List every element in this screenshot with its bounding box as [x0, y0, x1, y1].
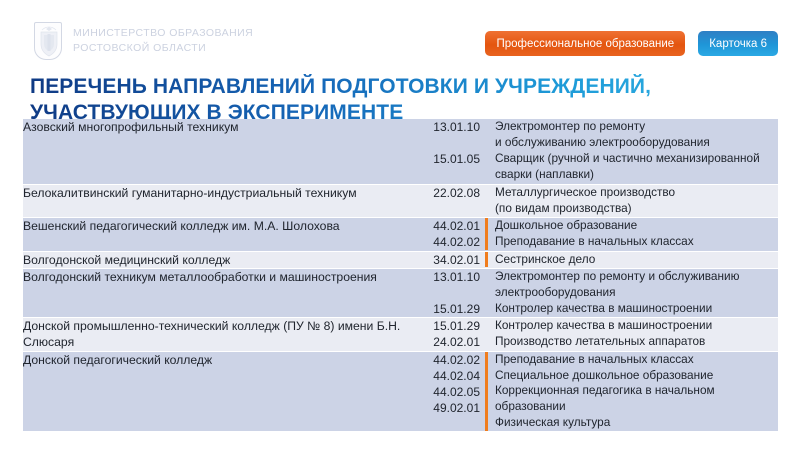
accent-bar-placeholder	[485, 185, 488, 217]
program-title-line: Преподавание в начальных классах	[495, 234, 694, 250]
badge-category[interactable]: Профессиональное образование	[485, 31, 685, 56]
program-title-line: Контролер качества в машиностроении	[495, 301, 712, 317]
institution-name: Азовский многопрофильный техникум	[23, 119, 408, 135]
program-title-line: сварки (наплавки)	[495, 167, 760, 183]
program-title: Коррекционная педагогика в начальном обр…	[492, 383, 778, 415]
accent-bar-placeholder	[485, 301, 488, 317]
slide-header: МИНИСТЕРСТВО ОБРАЗОВАНИЯ РОСТОВСКОЙ ОБЛА…	[0, 0, 800, 72]
code-cell: 44.02.0144.02.02	[408, 218, 480, 251]
program-cell: Преподавание в начальных классахСпециаль…	[480, 351, 778, 432]
accent-bar-slot	[480, 383, 492, 415]
program-entry: Преподавание в начальных классах	[480, 234, 778, 250]
institution-name: Донской педагогический колледж	[23, 352, 408, 368]
code-cell: 13.01.10 15.01.05	[408, 119, 480, 184]
program-cell: Электромонтер по ремонту и обслуживаниюэ…	[480, 268, 778, 318]
institution-cell: Вешенский педагогический колледж им. М.А…	[23, 218, 408, 251]
table-row: Донской педагогический колледж44.02.0244…	[23, 351, 778, 432]
accent-bar-placeholder	[485, 119, 488, 151]
accent-bar-slot	[480, 234, 492, 250]
program-entry: Контролер качества в машиностроении	[480, 318, 778, 334]
program-title: Производство летательных аппаратов	[492, 334, 705, 350]
program-title-line: Физическая культура	[495, 415, 610, 431]
program-entry: Сварщик (ручной и частично механизирован…	[480, 151, 778, 183]
program-entry: Контролер качества в машиностроении	[480, 301, 778, 317]
program-code: 13.01.10	[408, 269, 480, 285]
program-title-line: Специальное дошкольное образование	[495, 368, 713, 384]
program-entry: Электромонтер по ремонту и обслуживаниюэ…	[480, 269, 778, 301]
accent-bar-slot	[480, 352, 492, 368]
accent-bar-icon	[485, 218, 488, 234]
institution-name: Волгодонский техникум металлообработки и…	[23, 269, 408, 285]
program-code: 44.02.04	[408, 368, 480, 384]
program-cell: Сестринское дело	[480, 251, 778, 268]
program-cell: Металлургическое производство(по видам п…	[480, 184, 778, 217]
institution-cell: Донской педагогический колледж	[23, 351, 408, 432]
program-title-line: Электромонтер по ремонту	[495, 119, 710, 135]
accent-bar-icon	[485, 415, 488, 431]
accent-bar-slot	[480, 415, 492, 431]
code-cell: 15.01.2924.02.01	[408, 318, 480, 351]
program-entry: Электромонтер по ремонтуи обслуживанию э…	[480, 119, 778, 151]
institution-cell: Волгодонской медицинский колледж	[23, 251, 408, 268]
program-title: Металлургическое производство(по видам п…	[492, 185, 675, 217]
program-title: Дошкольное образование	[492, 218, 637, 234]
accent-bar-placeholder	[485, 151, 488, 183]
ministry-name: МИНИСТЕРСТВО ОБРАЗОВАНИЯ РОСТОВСКОЙ ОБЛА…	[73, 27, 253, 55]
program-entry: Специальное дошкольное образование	[480, 368, 778, 384]
table-row: Вешенский педагогический колледж им. М.А…	[23, 218, 778, 251]
accent-bar-slot	[480, 252, 492, 268]
program-title-line: электрооборудования	[495, 285, 739, 301]
table-row: Волгодонский техникум металлообработки и…	[23, 268, 778, 318]
accent-bar-slot	[480, 368, 492, 384]
program-title-line: Преподавание в начальных классах	[495, 352, 694, 368]
code-cell: 44.02.0244.02.0444.02.0549.02.01	[408, 351, 480, 432]
institution-name: Волгодонской медицинский колледж	[23, 252, 408, 268]
program-cell: Электромонтер по ремонтуи обслуживанию э…	[480, 119, 778, 184]
accent-bar-slot	[480, 269, 492, 301]
program-title: Электромонтер по ремонту и обслуживаниюэ…	[492, 269, 739, 301]
program-cell: Контролер качества в машиностроенииПроиз…	[480, 318, 778, 351]
accent-bar-slot	[480, 334, 492, 350]
program-code: 49.02.01	[408, 400, 480, 416]
program-entry: Дошкольное образование	[480, 218, 778, 234]
program-title: Сестринское дело	[492, 252, 595, 268]
accent-bar-icon	[485, 234, 488, 250]
program-entry: Коррекционная педагогика в начальном обр…	[480, 383, 778, 415]
program-code: 15.01.29	[408, 318, 480, 334]
code-spacer	[408, 135, 480, 151]
institution-cell: Волгодонский техникум металлообработки и…	[23, 268, 408, 318]
table-row: Волгодонской медицинский колледж34.02.01…	[23, 251, 778, 268]
program-code: 44.02.02	[408, 352, 480, 368]
table-row: Донской промышленно-технический колледж …	[23, 318, 778, 351]
accent-bar-placeholder	[485, 334, 488, 350]
accent-bar-slot	[480, 318, 492, 334]
code-spacer	[408, 285, 480, 301]
program-title: Контролер качества в машиностроении	[492, 301, 712, 317]
program-title-line: Коррекционная педагогика в начальном обр…	[495, 383, 778, 415]
program-title-line: Сестринское дело	[495, 252, 595, 268]
slide-root: МИНИСТЕРСТВО ОБРАЗОВАНИЯ РОСТОВСКОЙ ОБЛА…	[0, 0, 800, 450]
table-row: Белокалитвинский гуманитарно-индустриаль…	[23, 184, 778, 217]
code-cell: 13.01.10 15.01.29	[408, 268, 480, 318]
program-title: Сварщик (ручной и частично механизирован…	[492, 151, 760, 183]
code-spacer	[408, 168, 480, 184]
program-code: 22.02.08	[408, 185, 480, 201]
program-entry: Производство летательных аппаратов	[480, 334, 778, 350]
program-entry: Физическая культура	[480, 415, 778, 431]
programs-table: Азовский многопрофильный техникум13.01.1…	[23, 119, 778, 432]
table-row: Азовский многопрофильный техникум13.01.1…	[23, 119, 778, 184]
program-title-line: Сварщик (ручной и частично механизирован…	[495, 151, 760, 167]
program-title: Контролер качества в машиностроении	[492, 318, 712, 334]
accent-bar-slot	[480, 151, 492, 183]
coat-of-arms-icon	[34, 22, 62, 60]
program-entry: Преподавание в начальных классах	[480, 352, 778, 368]
accent-bar-slot	[480, 218, 492, 234]
accent-bar-icon	[485, 252, 488, 268]
program-entry: Сестринское дело	[480, 252, 778, 268]
program-code: 24.02.01	[408, 334, 480, 350]
program-cell: Дошкольное образованиеПреподавание в нач…	[480, 218, 778, 251]
program-code: 44.02.02	[408, 234, 480, 250]
program-title-line: Производство летательных аппаратов	[495, 334, 705, 350]
ministry-line-1: МИНИСТЕРСТВО ОБРАЗОВАНИЯ	[73, 27, 253, 40]
header-badges: Профессиональное образование Карточка 6	[485, 31, 778, 56]
program-title: Физическая культура	[492, 415, 610, 431]
program-code: 44.02.05	[408, 384, 480, 400]
page-title: ПЕРЕЧЕНЬ НАПРАВЛЕНИЙ ПОДГОТОВКИ И УЧРЕЖД…	[30, 74, 770, 125]
program-title: Преподавание в начальных классах	[492, 234, 694, 250]
program-title-line: Контролер качества в машиностроении	[495, 318, 712, 334]
accent-bar-icon	[485, 352, 488, 368]
accent-bar-placeholder	[485, 269, 488, 301]
ministry-line-2: РОСТОВСКОЙ ОБЛАСТИ	[73, 42, 253, 55]
program-title-line: (по видам производства)	[495, 201, 675, 217]
programs-table-body: Азовский многопрофильный техникум13.01.1…	[23, 119, 778, 432]
code-cell: 22.02.08	[408, 184, 480, 217]
code-spacer	[408, 201, 480, 217]
program-title: Специальное дошкольное образование	[492, 368, 713, 384]
program-title-line: и обслуживанию электрооборудования	[495, 135, 710, 151]
program-title-line: Металлургическое производство	[495, 185, 675, 201]
program-title: Преподавание в начальных классах	[492, 352, 694, 368]
accent-bar-placeholder	[485, 318, 488, 334]
institution-name: Донской промышленно-технический колледж …	[23, 318, 408, 350]
institution-cell: Азовский многопрофильный техникум	[23, 119, 408, 184]
accent-bar-slot	[480, 185, 492, 217]
badge-card-number[interactable]: Карточка 6	[698, 31, 778, 56]
program-code: 34.02.01	[408, 252, 480, 268]
program-title: Электромонтер по ремонтуи обслуживанию э…	[492, 119, 710, 151]
program-code: 44.02.01	[408, 218, 480, 234]
accent-bar-icon	[485, 383, 488, 415]
institution-name: Вешенский педагогический колледж им. М.А…	[23, 218, 408, 234]
program-entry: Металлургическое производство(по видам п…	[480, 185, 778, 217]
program-code: 13.01.10	[408, 119, 480, 135]
ministry-brand: МИНИСТЕРСТВО ОБРАЗОВАНИЯ РОСТОВСКОЙ ОБЛА…	[34, 22, 253, 60]
program-code: 15.01.05	[408, 151, 480, 167]
institution-cell: Белокалитвинский гуманитарно-индустриаль…	[23, 184, 408, 217]
program-title-line: Электромонтер по ремонту и обслуживанию	[495, 269, 739, 285]
accent-bar-icon	[485, 368, 488, 384]
program-code: 15.01.29	[408, 301, 480, 317]
accent-bar-slot	[480, 301, 492, 317]
program-title-line: Дошкольное образование	[495, 218, 637, 234]
institution-cell: Донской промышленно-технический колледж …	[23, 318, 408, 351]
code-cell: 34.02.01	[408, 251, 480, 268]
accent-bar-slot	[480, 119, 492, 151]
institution-name: Белокалитвинский гуманитарно-индустриаль…	[23, 185, 408, 201]
